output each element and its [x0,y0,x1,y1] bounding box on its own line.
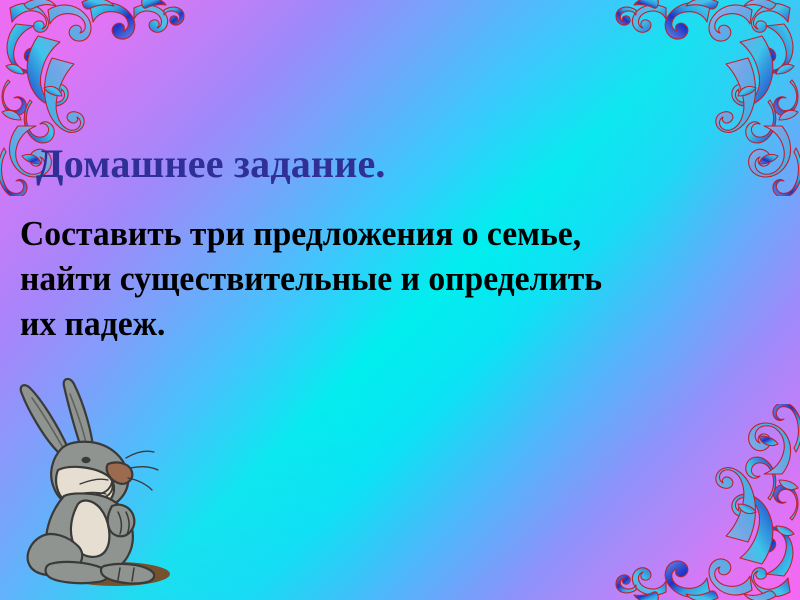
body-line-3: их падеж. [20,301,755,346]
body-line-2: найти существительные и определить [20,256,755,301]
slide-body-text: Составить три предложения о семье, найти… [20,211,755,346]
slide-canvas: Домашнее задание. Составить три предложе… [0,0,800,600]
slide-title: Домашнее задание. [36,140,386,187]
body-line-1: Составить три предложения о семье, [20,211,755,256]
